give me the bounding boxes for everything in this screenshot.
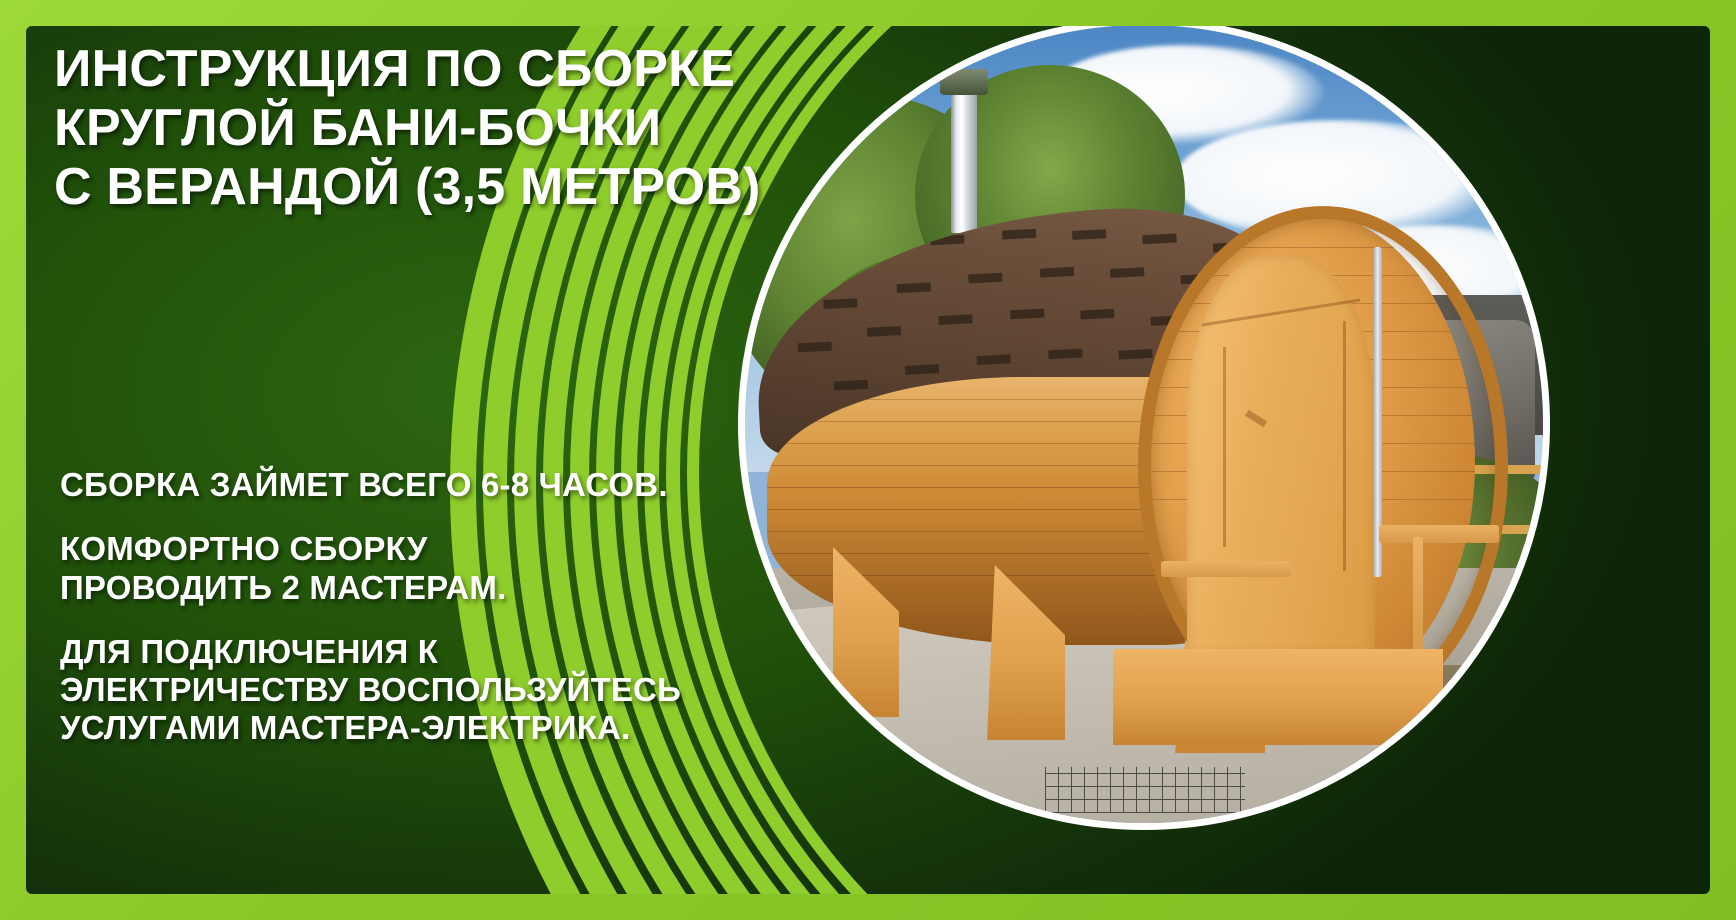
shingle xyxy=(1010,309,1044,320)
promo-banner: ИНСТРУКЦИЯ ПО СБОРКЕ КРУГЛОЙ БАНИ-БОЧКИ … xyxy=(0,0,1736,920)
door-panel-line xyxy=(1343,321,1346,571)
barrel-sauna-photo xyxy=(745,26,1543,823)
paragraph-1: СБОРКА ЗАЙМЕТ ВСЕГО 6-8 ЧАСОВ. xyxy=(60,466,820,504)
paragraph-2: КОМФОРТНО СБОРКУ ПРОВОДИТЬ 2 МАСТЕРАМ. xyxy=(60,530,820,607)
title-line-3: С ВЕРАНДОЙ (3,5 МЕТРОВ) xyxy=(54,158,844,217)
page-title: ИНСТРУКЦИЯ ПО СБОРКЕ КРУГЛОЙ БАНИ-БОЧКИ … xyxy=(54,40,844,216)
shingle xyxy=(1142,233,1176,244)
shingle xyxy=(968,273,1002,284)
paragraph-3-line-3: УСЛУГАМИ МАСТЕРА-ЭЛЕКТРИКА. xyxy=(60,709,820,747)
door-panel-line xyxy=(1223,347,1226,547)
shingle xyxy=(1072,229,1106,240)
paragraph-3: ДЛЯ ПОДКЛЮЧЕНИЯ К ЭЛЕКТРИЧЕСТВУ ВОСПОЛЬЗ… xyxy=(60,633,820,748)
door-panel-line xyxy=(1202,299,1360,327)
shingle xyxy=(938,314,972,325)
paragraph-3-line-2: ЭЛЕКТРИЧЕСТВУ ВОСПОЛЬЗУЙТЕСЬ xyxy=(60,671,820,709)
chimney-cap xyxy=(940,69,988,95)
shingle xyxy=(897,282,931,293)
shingle xyxy=(1048,349,1082,360)
shingle xyxy=(823,298,857,309)
title-line-1: ИНСТРУКЦИЯ ПО СБОРКЕ xyxy=(54,40,844,99)
door-handle-latch xyxy=(1245,410,1267,428)
shingle xyxy=(1040,267,1074,278)
paragraph-2-line-2: ПРОВОДИТЬ 2 МАСТЕРАМ. xyxy=(60,569,820,607)
chimney-pipe xyxy=(951,91,977,233)
veranda-platform xyxy=(1113,649,1443,745)
shingle xyxy=(860,244,894,255)
paragraph-2-line-1: КОМФОРТНО СБОРКУ xyxy=(60,530,820,568)
shingle xyxy=(1110,267,1144,278)
metal-fence xyxy=(1045,767,1245,813)
shingle xyxy=(867,326,901,337)
veranda-bench-front xyxy=(1161,561,1291,577)
shingle xyxy=(930,235,964,246)
shingle xyxy=(976,354,1010,365)
shingle xyxy=(905,364,939,375)
title-line-2: КРУГЛОЙ БАНИ-БОЧКИ xyxy=(54,99,844,158)
veranda-bench-right xyxy=(1379,525,1499,543)
sauna-door xyxy=(1187,255,1375,655)
paragraph-3-line-1: ДЛЯ ПОДКЛЮЧЕНИЯ К xyxy=(60,633,820,671)
shingle xyxy=(791,260,825,271)
shingle xyxy=(797,342,831,353)
photo-circle-frame xyxy=(738,26,1550,830)
paragraph-1-line-1: СБОРКА ЗАЙМЕТ ВСЕГО 6-8 ЧАСОВ. xyxy=(60,466,820,504)
shingle xyxy=(1080,309,1114,320)
veranda-bench-leg xyxy=(1413,537,1423,657)
body-text-block: СБОРКА ЗАЙМЕТ ВСЕГО 6-8 ЧАСОВ. КОМФОРТНО… xyxy=(60,466,820,748)
dark-green-panel: ИНСТРУКЦИЯ ПО СБОРКЕ КРУГЛОЙ БАНИ-БОЧКИ … xyxy=(26,26,1710,894)
shingle xyxy=(1002,229,1036,240)
